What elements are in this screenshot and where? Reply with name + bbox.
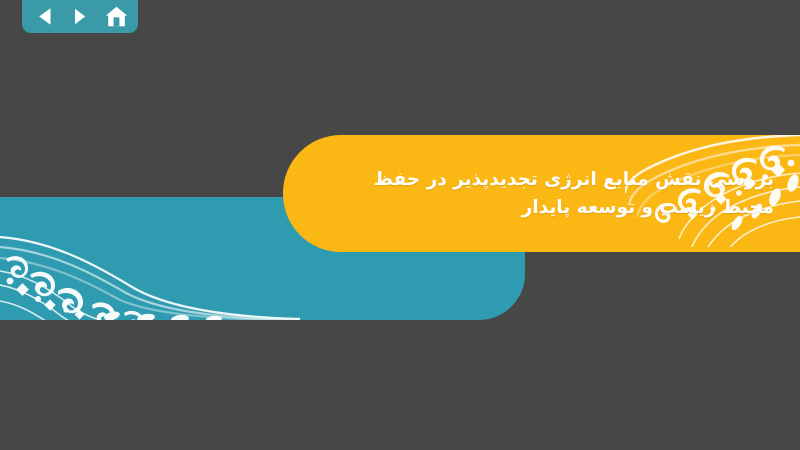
title-banner: بررسی نقش منابع انرژی تجدیدپذیر در حفظ م…: [283, 135, 800, 252]
forward-button[interactable]: [67, 4, 93, 30]
page-title: بررسی نقش منابع انرژی تجدیدپذیر در حفظ م…: [329, 165, 774, 221]
forward-triangle-icon: [73, 7, 87, 26]
navigation-bar: [22, 0, 138, 33]
back-triangle-icon: [36, 7, 53, 26]
back-button[interactable]: [31, 4, 57, 30]
home-button[interactable]: [103, 4, 129, 30]
home-icon: [105, 6, 128, 27]
title-line-2: محیط زیست و توسعه پایدار: [329, 194, 774, 222]
arabesque-corner-ornament: [0, 215, 300, 320]
title-line-1: بررسی نقش منابع انرژی تجدیدپذیر در حفظ: [329, 165, 774, 193]
